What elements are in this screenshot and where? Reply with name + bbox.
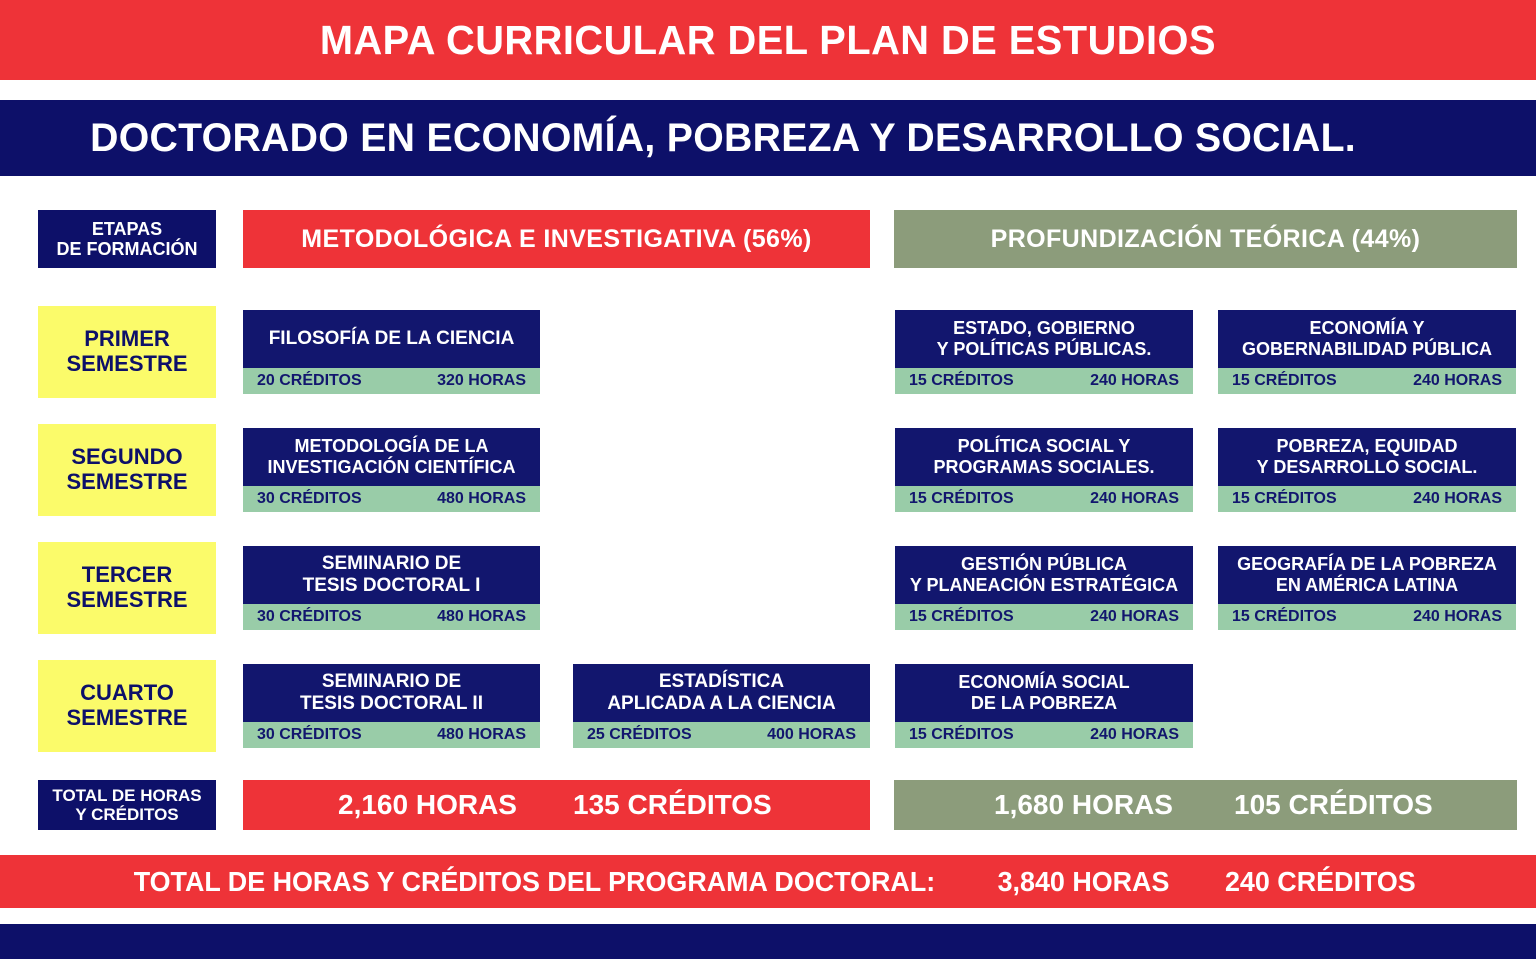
course-card-s2-prof-b[interactable]: POBREZA, EQUIDAD Y DESARROLLO SOCIAL. 15… xyxy=(1218,428,1516,512)
course-title-s4-met-a-line1: SEMINARIO DE xyxy=(322,671,461,693)
semester-label-3-line2: SEMESTRE xyxy=(66,588,187,613)
course-meta-s2-prof-a: 15 CRÉDITOS 240 HORAS xyxy=(895,486,1193,512)
course-credits-s2-met-a: 30 CRÉDITOS xyxy=(257,490,362,508)
course-title-s2-prof-b: POBREZA, EQUIDAD Y DESARROLLO SOCIAL. xyxy=(1218,428,1516,486)
course-title-s1-prof-a-line2: Y POLÍTICAS PÚBLICAS. xyxy=(937,339,1152,360)
program-totals-hours: 3,840 HORAS xyxy=(997,866,1169,898)
course-card-s1-prof-a[interactable]: ESTADO, GOBIERNO Y POLÍTICAS PÚBLICAS. 1… xyxy=(895,310,1193,394)
course-credits-s2-prof-b: 15 CRÉDITOS xyxy=(1232,490,1337,508)
course-hours-s1-prof-b: 240 HORAS xyxy=(1413,372,1502,390)
course-hours-s3-prof-a: 240 HORAS xyxy=(1090,608,1179,626)
totals-theoretical-hours: 1,680 HORAS xyxy=(994,789,1173,821)
course-card-s4-met-a[interactable]: SEMINARIO DE TESIS DOCTORAL II 30 CRÉDIT… xyxy=(243,664,540,748)
course-hours-s2-prof-b: 240 HORAS xyxy=(1413,490,1502,508)
track-header-methodological: METODOLÓGICA E INVESTIGATIVA (56%) xyxy=(243,210,870,268)
course-title-s2-prof-a: POLÍTICA SOCIAL Y PROGRAMAS SOCIALES. xyxy=(895,428,1193,486)
course-card-s4-met-b[interactable]: ESTADÍSTICA APLICADA A LA CIENCIA 25 CRÉ… xyxy=(573,664,870,748)
course-title-s3-prof-a-line2: Y PLANEACIÓN ESTRATÉGICA xyxy=(910,575,1178,596)
course-title-s4-prof-a-line2: DE LA POBREZA xyxy=(971,693,1117,714)
course-card-s2-prof-a[interactable]: POLÍTICA SOCIAL Y PROGRAMAS SOCIALES. 15… xyxy=(895,428,1193,512)
semester-label-4-line1: CUARTO xyxy=(80,681,174,706)
program-totals-banner: TOTAL DE HORAS Y CRÉDITOS DEL PROGRAMA D… xyxy=(0,855,1536,908)
course-title-s2-met-a: METODOLOGÍA DE LA INVESTIGACIÓN CIENTÍFI… xyxy=(243,428,540,486)
course-credits-s3-prof-a: 15 CRÉDITOS xyxy=(909,608,1014,626)
top-banner-title: MAPA CURRICULAR DEL PLAN DE ESTUDIOS xyxy=(320,17,1216,64)
course-meta-s4-met-b: 25 CRÉDITOS 400 HORAS xyxy=(573,722,870,748)
semester-label-2-line2: SEMESTRE xyxy=(66,470,187,495)
course-title-s2-prof-a-line2: PROGRAMAS SOCIALES. xyxy=(933,457,1154,478)
course-credits-s1-met-a: 20 CRÉDITOS xyxy=(257,372,362,390)
course-hours-s4-met-a: 480 HORAS xyxy=(437,726,526,744)
course-hours-s2-met-a: 480 HORAS xyxy=(437,490,526,508)
course-meta-s3-met-a: 30 CRÉDITOS 480 HORAS xyxy=(243,604,540,630)
course-card-s4-prof-a[interactable]: ECONOMÍA SOCIAL DE LA POBREZA 15 CRÉDITO… xyxy=(895,664,1193,748)
course-meta-s3-prof-a: 15 CRÉDITOS 240 HORAS xyxy=(895,604,1193,630)
course-card-s3-prof-b[interactable]: GEOGRAFÍA DE LA POBREZA EN AMÉRICA LATIN… xyxy=(1218,546,1516,630)
course-title-s1-prof-b-line1: ECONOMÍA Y xyxy=(1309,318,1424,339)
totals-row: TOTAL DE HORAS Y CRÉDITOS 2,160 HORAS 13… xyxy=(0,778,1536,838)
course-hours-s1-met-a: 320 HORAS xyxy=(437,372,526,390)
course-title-s4-met-b-line2: APLICADA A LA CIENCIA xyxy=(607,693,835,715)
course-title-s3-met-a-line2: TESIS DOCTORAL I xyxy=(303,575,481,597)
course-title-s2-prof-a-line1: POLÍTICA SOCIAL Y xyxy=(958,436,1131,457)
course-credits-s2-prof-a: 15 CRÉDITOS xyxy=(909,490,1014,508)
course-meta-s3-prof-b: 15 CRÉDITOS 240 HORAS xyxy=(1218,604,1516,630)
stages-label-line2: DE FORMACIÓN xyxy=(57,239,198,259)
course-card-s1-met-a[interactable]: FILOSOFÍA DE LA CIENCIA 20 CRÉDITOS 320 … xyxy=(243,310,540,394)
totals-bar-theoretical: 1,680 HORAS 105 CRÉDITOS xyxy=(894,780,1517,830)
stages-label-chip: ETAPAS DE FORMACIÓN xyxy=(38,210,216,268)
course-title-s1-prof-a: ESTADO, GOBIERNO Y POLÍTICAS PÚBLICAS. xyxy=(895,310,1193,368)
course-meta-s1-prof-a: 15 CRÉDITOS 240 HORAS xyxy=(895,368,1193,394)
course-hours-s3-met-a: 480 HORAS xyxy=(437,608,526,626)
course-meta-s4-met-a: 30 CRÉDITOS 480 HORAS xyxy=(243,722,540,748)
course-title-s2-prof-b-line1: POBREZA, EQUIDAD xyxy=(1276,436,1457,457)
semester-row-4: CUARTO SEMESTRE SEMINARIO DE TESIS DOCTO… xyxy=(0,660,1536,760)
course-meta-s1-prof-b: 15 CRÉDITOS 240 HORAS xyxy=(1218,368,1516,394)
track-header-theoretical: PROFUNDIZACIÓN TEÓRICA (44%) xyxy=(894,210,1517,268)
course-credits-s4-prof-a: 15 CRÉDITOS xyxy=(909,726,1014,744)
course-card-s1-prof-b[interactable]: ECONOMÍA Y GOBERNABILIDAD PÚBLICA 15 CRÉ… xyxy=(1218,310,1516,394)
course-hours-s2-prof-a: 240 HORAS xyxy=(1090,490,1179,508)
semester-label-3-line1: TERCER xyxy=(82,563,172,588)
program-totals-label: TOTAL DE HORAS Y CRÉDITOS DEL PROGRAMA D… xyxy=(133,866,934,898)
program-title: DOCTORADO EN ECONOMÍA, POBREZA Y DESARRO… xyxy=(14,116,1356,161)
stages-label-line1: ETAPAS xyxy=(92,219,162,239)
course-credits-s3-met-a: 30 CRÉDITOS xyxy=(257,608,362,626)
course-title-s3-met-a-line1: SEMINARIO DE xyxy=(322,553,461,575)
course-title-s4-met-b: ESTADÍSTICA APLICADA A LA CIENCIA xyxy=(573,664,870,722)
semester-label-4: CUARTO SEMESTRE xyxy=(38,660,216,752)
course-card-s2-met-a[interactable]: METODOLOGÍA DE LA INVESTIGACIÓN CIENTÍFI… xyxy=(243,428,540,512)
course-title-s2-met-a-line2: INVESTIGACIÓN CIENTÍFICA xyxy=(267,457,515,478)
bottom-navy-strip xyxy=(0,924,1536,959)
course-title-s4-met-b-line1: ESTADÍSTICA xyxy=(659,671,784,693)
track-header-methodological-label: METODOLÓGICA E INVESTIGATIVA (56%) xyxy=(301,225,811,254)
totals-methodological-credits: 135 CRÉDITOS xyxy=(573,789,772,821)
program-title-bar: DOCTORADO EN ECONOMÍA, POBREZA Y DESARRO… xyxy=(0,100,1536,176)
course-hours-s4-met-b: 400 HORAS xyxy=(767,726,856,744)
course-meta-s2-prof-b: 15 CRÉDITOS 240 HORAS xyxy=(1218,486,1516,512)
course-title-s4-met-a: SEMINARIO DE TESIS DOCTORAL II xyxy=(243,664,540,722)
course-title-s1-prof-b: ECONOMÍA Y GOBERNABILIDAD PÚBLICA xyxy=(1218,310,1516,368)
semester-row-3: TERCER SEMESTRE SEMINARIO DE TESIS DOCTO… xyxy=(0,542,1536,642)
course-hours-s4-prof-a: 240 HORAS xyxy=(1090,726,1179,744)
course-title-s4-prof-a-line1: ECONOMÍA SOCIAL xyxy=(958,672,1129,693)
course-credits-s3-prof-b: 15 CRÉDITOS xyxy=(1232,608,1337,626)
curriculum-grid: ETAPAS DE FORMACIÓN METODOLÓGICA E INVES… xyxy=(0,176,1536,850)
course-title-s3-prof-b-line2: EN AMÉRICA LATINA xyxy=(1276,575,1458,596)
course-title-s3-prof-a: GESTIÓN PÚBLICA Y PLANEACIÓN ESTRATÉGICA xyxy=(895,546,1193,604)
semester-row-2: SEGUNDO SEMESTRE METODOLOGÍA DE LA INVES… xyxy=(0,424,1536,524)
totals-methodological-hours: 2,160 HORAS xyxy=(338,789,517,821)
totals-theoretical-credits: 105 CRÉDITOS xyxy=(1234,789,1433,821)
course-title-s3-prof-a-line1: GESTIÓN PÚBLICA xyxy=(961,554,1127,575)
course-title-s3-prof-b: GEOGRAFÍA DE LA POBREZA EN AMÉRICA LATIN… xyxy=(1218,546,1516,604)
semester-label-1: PRIMER SEMESTRE xyxy=(38,306,216,398)
course-title-s3-prof-b-line1: GEOGRAFÍA DE LA POBREZA xyxy=(1237,554,1497,575)
track-header-theoretical-label: PROFUNDIZACIÓN TEÓRICA (44%) xyxy=(991,225,1421,254)
course-title-s2-met-a-line1: METODOLOGÍA DE LA xyxy=(294,436,488,457)
course-title-s1-prof-a-line1: ESTADO, GOBIERNO xyxy=(953,318,1135,339)
semester-label-2-line1: SEGUNDO xyxy=(71,445,182,470)
top-banner: MAPA CURRICULAR DEL PLAN DE ESTUDIOS xyxy=(0,0,1536,80)
semester-label-1-line2: SEMESTRE xyxy=(66,352,187,377)
course-credits-s1-prof-a: 15 CRÉDITOS xyxy=(909,372,1014,390)
totals-label-chip: TOTAL DE HORAS Y CRÉDITOS xyxy=(38,780,216,830)
course-meta-s4-prof-a: 15 CRÉDITOS 240 HORAS xyxy=(895,722,1193,748)
totals-label-line1: TOTAL DE HORAS xyxy=(52,786,201,805)
semester-label-3: TERCER SEMESTRE xyxy=(38,542,216,634)
course-title-s1-prof-b-line2: GOBERNABILIDAD PÚBLICA xyxy=(1242,339,1492,360)
course-card-s3-prof-a[interactable]: GESTIÓN PÚBLICA Y PLANEACIÓN ESTRATÉGICA… xyxy=(895,546,1193,630)
course-meta-s2-met-a: 30 CRÉDITOS 480 HORAS xyxy=(243,486,540,512)
course-title-s4-met-a-line2: TESIS DOCTORAL II xyxy=(300,693,483,715)
semester-label-1-line1: PRIMER xyxy=(84,327,170,352)
header-row: ETAPAS DE FORMACIÓN METODOLÓGICA E INVES… xyxy=(0,210,1536,268)
program-totals-credits: 240 CRÉDITOS xyxy=(1225,866,1416,898)
course-title-s3-met-a: SEMINARIO DE TESIS DOCTORAL I xyxy=(243,546,540,604)
course-title-s1-met-a: FILOSOFÍA DE LA CIENCIA xyxy=(243,310,540,368)
course-title-s4-prof-a: ECONOMÍA SOCIAL DE LA POBREZA xyxy=(895,664,1193,722)
course-title-s2-prof-b-line2: Y DESARROLLO SOCIAL. xyxy=(1257,457,1478,478)
course-hours-s3-prof-b: 240 HORAS xyxy=(1413,608,1502,626)
course-meta-s1-met-a: 20 CRÉDITOS 320 HORAS xyxy=(243,368,540,394)
course-title-s1-met-a-line1: FILOSOFÍA DE LA CIENCIA xyxy=(269,328,515,350)
course-credits-s1-prof-b: 15 CRÉDITOS xyxy=(1232,372,1337,390)
totals-label-line2: Y CRÉDITOS xyxy=(75,805,178,824)
course-card-s3-met-a[interactable]: SEMINARIO DE TESIS DOCTORAL I 30 CRÉDITO… xyxy=(243,546,540,630)
course-credits-s4-met-b: 25 CRÉDITOS xyxy=(587,726,692,744)
curriculum-map-page: MAPA CURRICULAR DEL PLAN DE ESTUDIOS DOC… xyxy=(0,0,1536,959)
semester-row-1: PRIMER SEMESTRE FILOSOFÍA DE LA CIENCIA … xyxy=(0,306,1536,406)
semester-label-4-line2: SEMESTRE xyxy=(66,706,187,731)
semester-label-2: SEGUNDO SEMESTRE xyxy=(38,424,216,516)
totals-bar-methodological: 2,160 HORAS 135 CRÉDITOS xyxy=(243,780,870,830)
course-hours-s1-prof-a: 240 HORAS xyxy=(1090,372,1179,390)
course-credits-s4-met-a: 30 CRÉDITOS xyxy=(257,726,362,744)
